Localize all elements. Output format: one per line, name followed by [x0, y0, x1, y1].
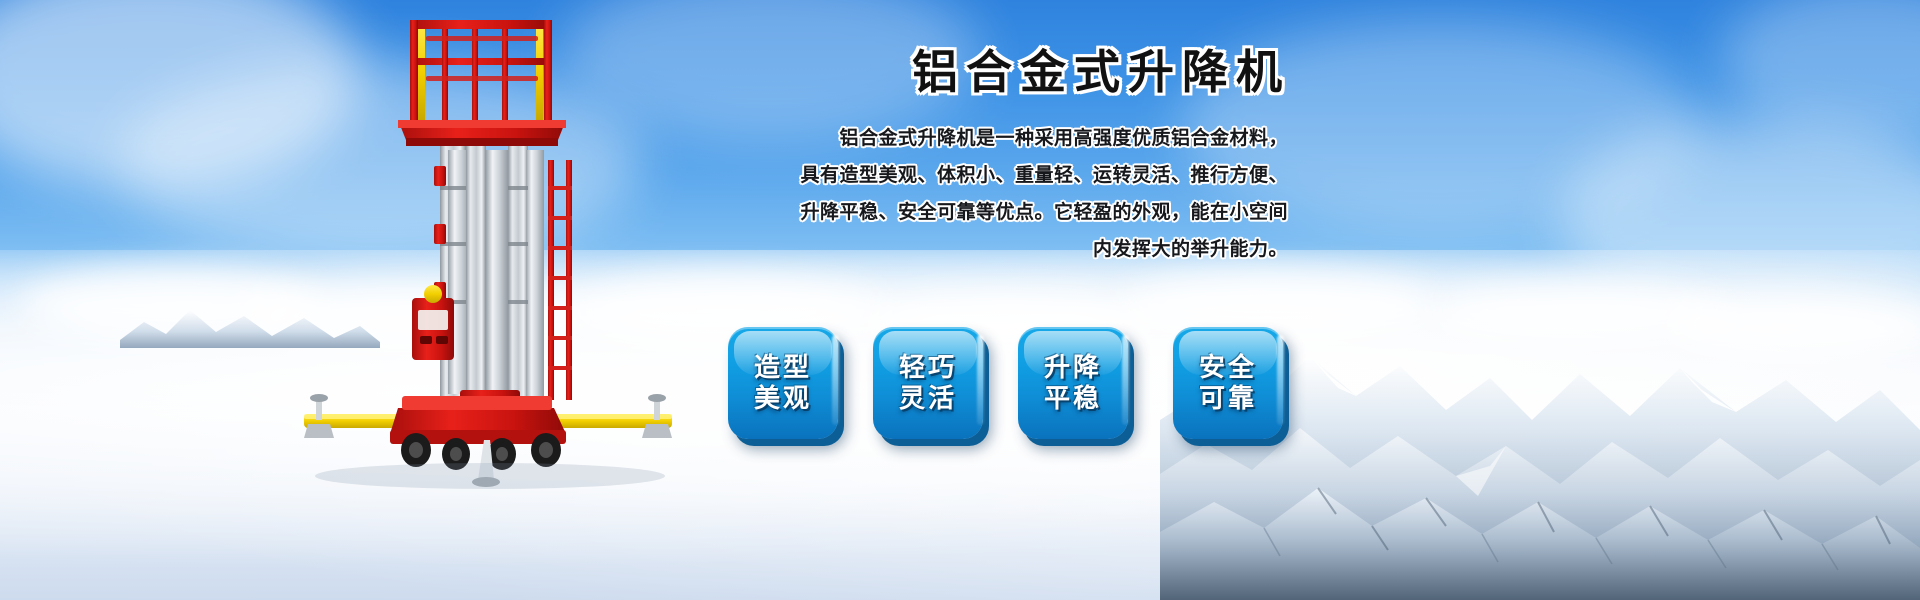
description-line: 具有造型美观、体积小、重量轻、运转灵活、推行方便、	[700, 157, 1288, 194]
product-banner: 铝合金式升降机 铝合金式升降机是一种采用高强度优质铝合金材料， 具有造型美观、体…	[0, 0, 1920, 600]
feature-badge-line1: 安全	[1199, 352, 1257, 383]
feature-badge-label: 轻巧 灵活	[899, 352, 957, 414]
feature-badge-line2: 灵活	[899, 383, 957, 414]
safety-ladder	[548, 160, 572, 400]
feature-badge-line1: 升降	[1044, 352, 1102, 383]
feature-badge-list: 造型 美观 轻巧 灵活 升降 平稳 安全 可靠	[728, 327, 1308, 447]
feature-badge-line1: 造型	[754, 352, 812, 383]
platform-railing	[398, 20, 566, 146]
description-line: 升降平稳、安全可靠等优点。它轻盈的外观，能在小空间	[700, 194, 1288, 231]
banner-copy: 铝合金式升降机 铝合金式升降机是一种采用高强度优质铝合金材料， 具有造型美观、体…	[700, 44, 1300, 268]
feature-badge-appearance[interactable]: 造型 美观	[728, 327, 838, 439]
feature-badge-label: 造型 美观	[754, 352, 812, 414]
feature-badge-line2: 美观	[754, 383, 812, 414]
description-line: 铝合金式升降机是一种采用高强度优质铝合金材料，	[700, 120, 1288, 157]
feature-badge-label: 升降 平稳	[1044, 352, 1102, 414]
feature-badge-line1: 轻巧	[899, 352, 957, 383]
feature-badge-lightweight[interactable]: 轻巧 灵活	[873, 327, 983, 439]
description-line: 内发挥大的举升能力。	[700, 231, 1288, 268]
feature-badge-safety[interactable]: 安全 可靠	[1173, 327, 1283, 439]
feature-badge-smooth-lifting[interactable]: 升降 平稳	[1018, 327, 1128, 439]
page-title: 铝合金式升降机	[700, 44, 1300, 102]
feature-badge-line2: 可靠	[1199, 383, 1257, 414]
feature-badge-label: 安全 可靠	[1199, 352, 1257, 414]
product-description: 铝合金式升降机是一种采用高强度优质铝合金材料， 具有造型美观、体积小、重量轻、运…	[700, 120, 1300, 268]
product-image-lift-machine	[290, 10, 690, 490]
feature-badge-line2: 平稳	[1044, 383, 1102, 414]
